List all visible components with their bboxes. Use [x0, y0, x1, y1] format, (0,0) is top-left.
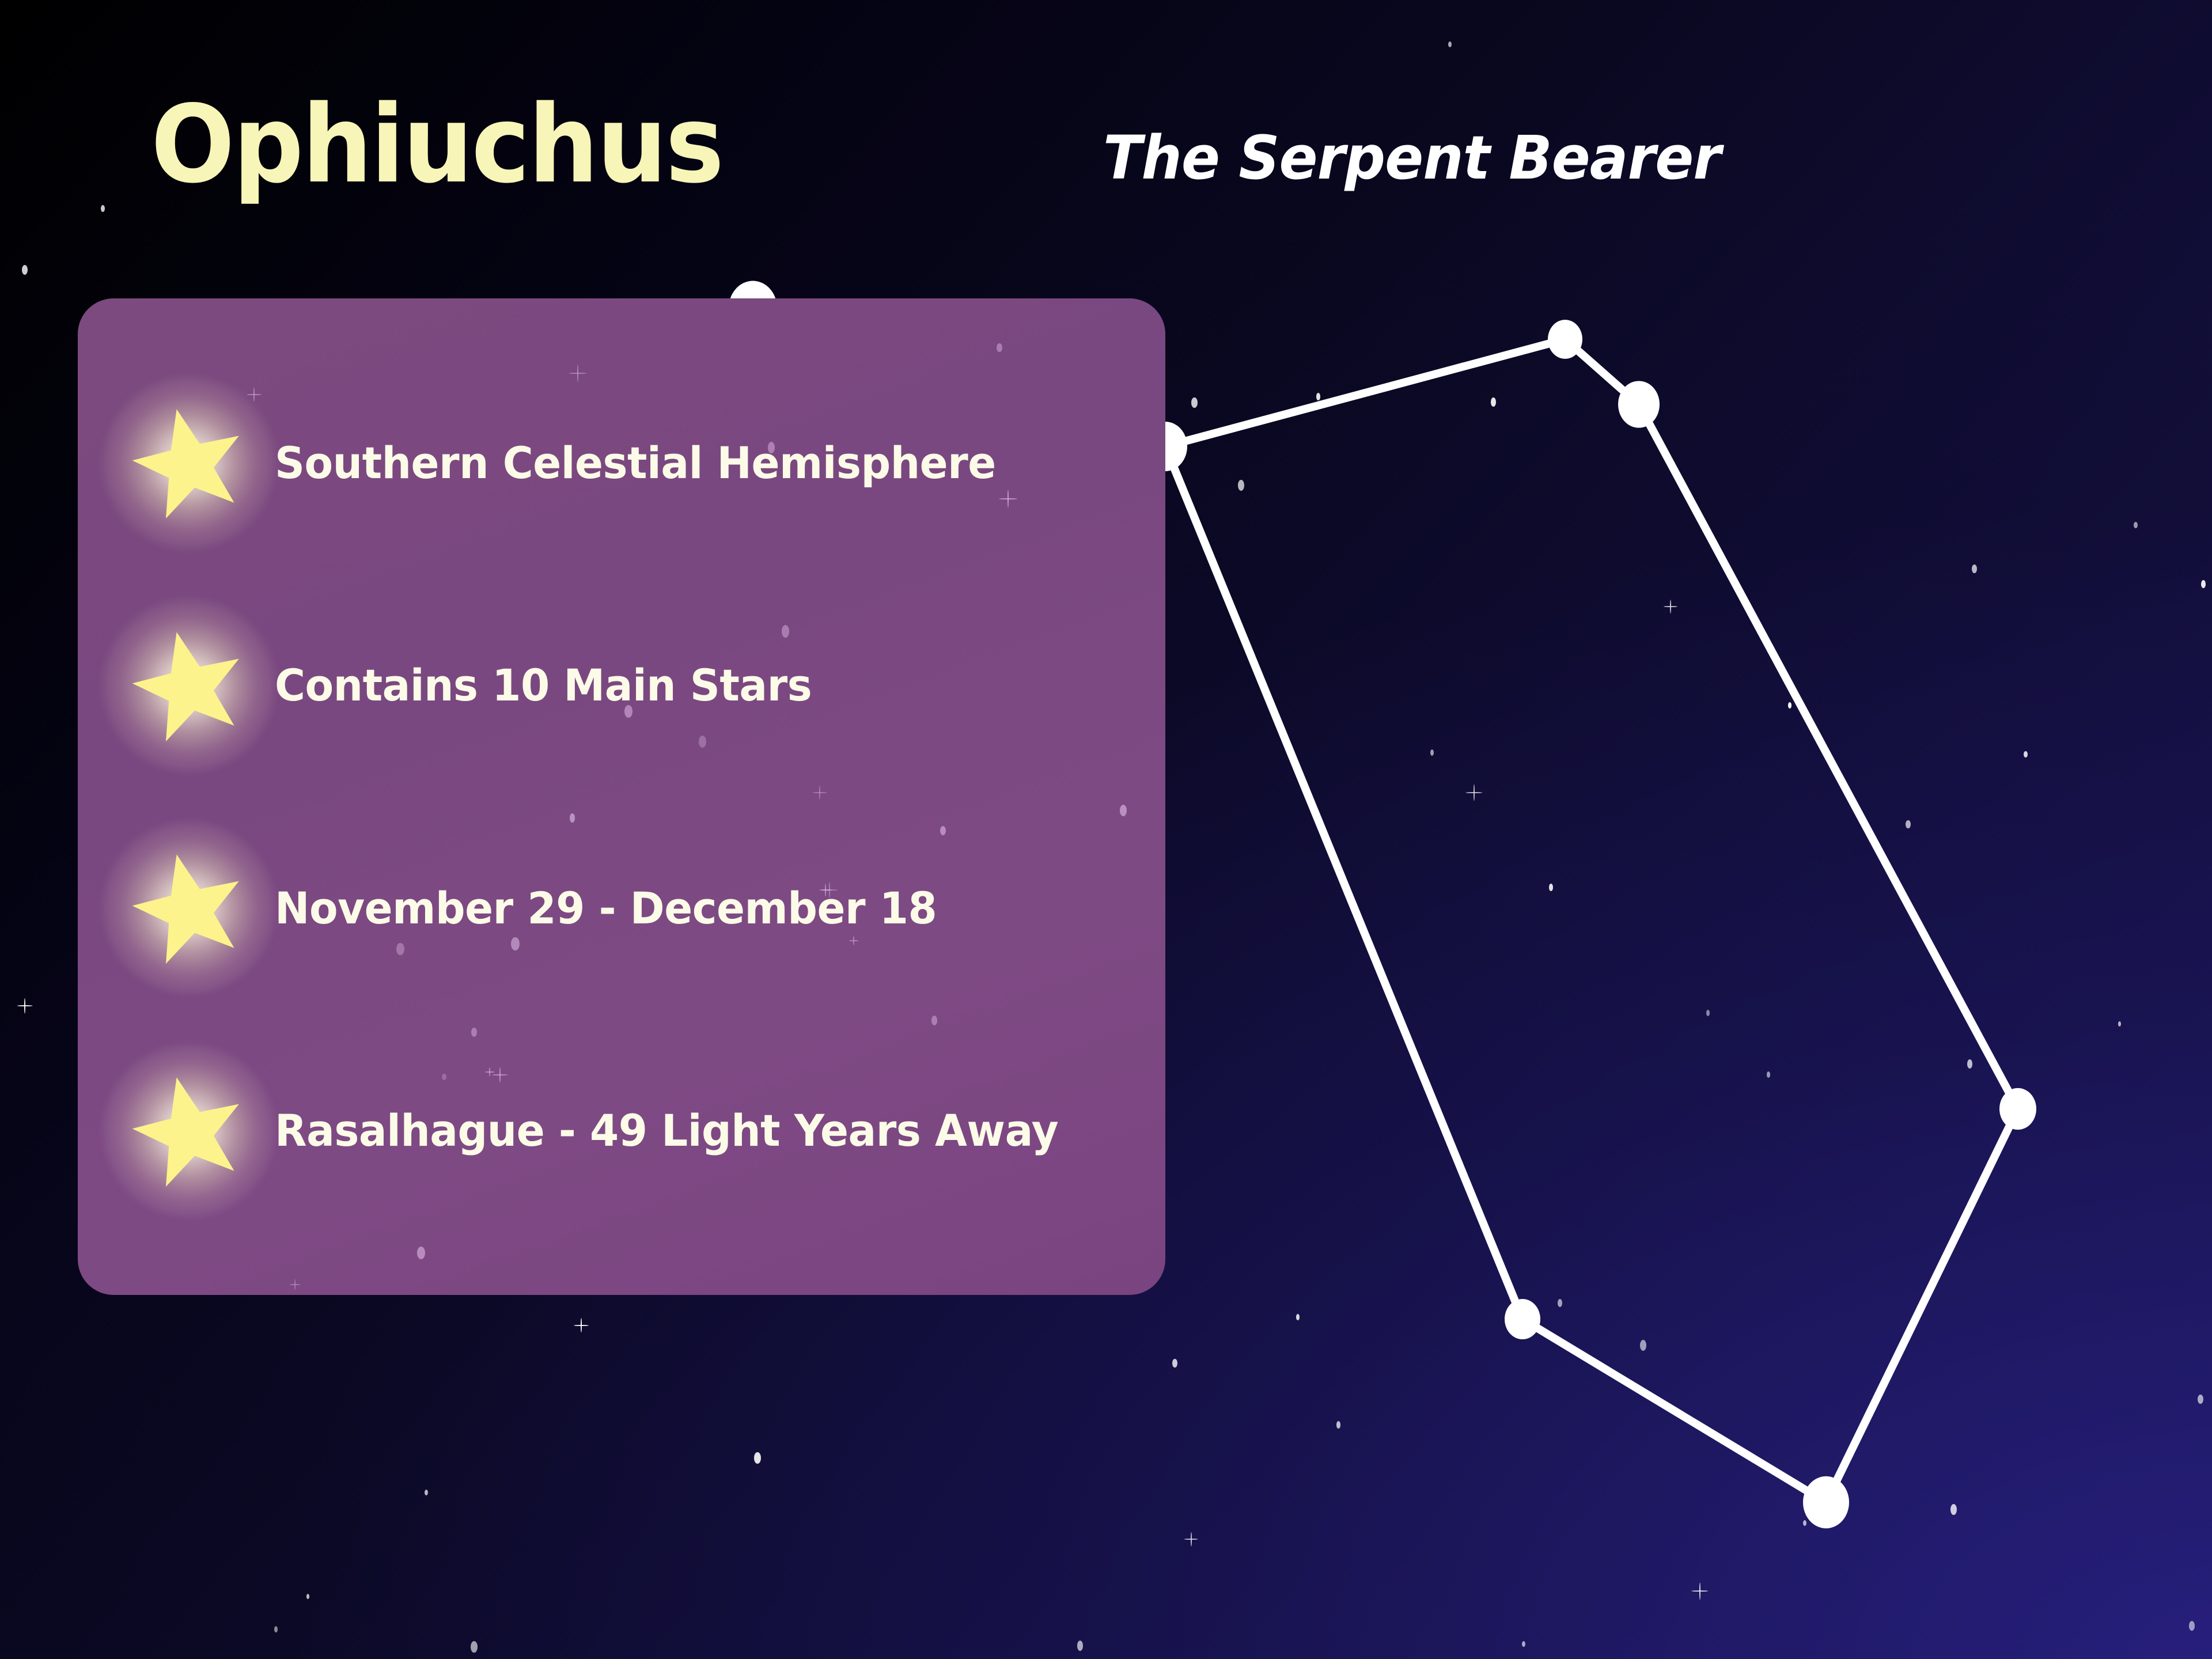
fact-list: Southern Celestial Hemisphere Contains 1… — [78, 298, 1165, 1295]
list-item: November 29 - December 18 — [78, 821, 1165, 994]
list-item-label: Contains 10 Main Stars — [275, 660, 812, 711]
constellation-star — [1505, 1299, 1540, 1339]
list-item: Southern Celestial Hemisphere — [78, 376, 1165, 549]
constellation-star — [1803, 1476, 1849, 1528]
star-icon — [111, 608, 267, 763]
list-item-label: Rasalhague - 49 Light Years Away — [275, 1105, 1058, 1156]
list-item: Contains 10 Main Stars — [78, 599, 1165, 772]
constellation-line — [1522, 1319, 1826, 1502]
constellation-line — [1826, 1109, 2018, 1502]
list-item-label: November 29 - December 18 — [275, 882, 937, 934]
constellation-star — [1548, 320, 1582, 359]
page-subtitle: The Serpent Bearer — [1103, 128, 1721, 188]
infographic-canvas: Ophiuchus The Serpent Bearer Southern Ce… — [0, 0, 2212, 1659]
list-item: Rasalhague - 49 Light Years Away — [78, 1044, 1165, 1217]
constellation-star — [1999, 1088, 2036, 1130]
star-icon — [111, 385, 267, 540]
star-icon — [111, 830, 267, 986]
page-title: Ophiuchus — [151, 91, 722, 198]
constellation-line — [1639, 404, 2018, 1109]
list-item-label: Southern Celestial Hemisphere — [275, 437, 996, 488]
header: Ophiuchus The Serpent Bearer — [0, 0, 2212, 248]
info-card: Southern Celestial Hemisphere Contains 1… — [78, 298, 1165, 1295]
constellation-star — [1618, 381, 1660, 427]
star-icon — [111, 1053, 267, 1209]
constellation-line — [1165, 339, 1565, 446]
constellation-line — [1165, 446, 1522, 1319]
